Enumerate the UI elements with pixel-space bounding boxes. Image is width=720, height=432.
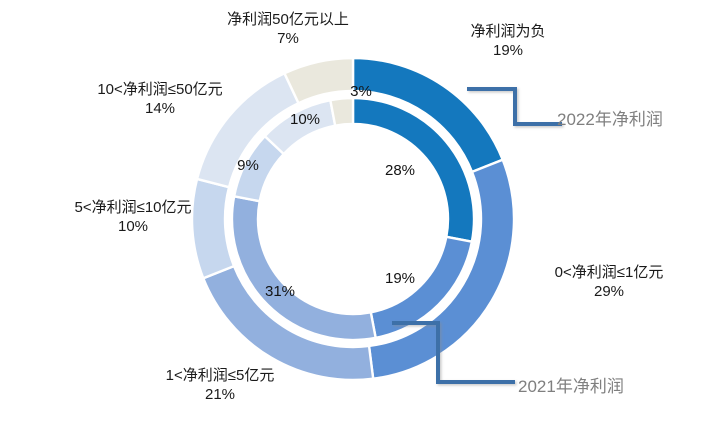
inner-value-label-0-to-1: 19% <box>374 270 426 287</box>
inner-value-label-5-to-10: 9% <box>227 157 269 174</box>
category-label-text: 10<净利润≤50亿元 <box>97 81 222 98</box>
callout-label-2022: 2022年净利润 <box>557 105 663 130</box>
inner-ring-2021 <box>232 98 474 340</box>
inner-value-label-above-50: 3% <box>340 83 382 100</box>
inner-value-label-10-to-50: 10% <box>279 111 331 128</box>
category-label-text: 净利润为负 <box>470 23 545 40</box>
category-label-text: 5<净利润≤10亿元 <box>74 199 191 216</box>
category-label-text: 1<净利润≤5亿元 <box>166 367 275 384</box>
donut-segment[interactable] <box>330 98 353 126</box>
category-label-10-to-50: 10<净利润≤50亿元 14% <box>60 80 260 118</box>
donut-chart: 净利润50亿元以上 7% 10<净利润≤50亿元 14% 5<净利润≤10亿元 … <box>0 0 720 432</box>
category-label-text: 0<净利润≤1亿元 <box>555 264 664 281</box>
category-label-percent: 7% <box>188 29 388 48</box>
category-label-net-profit-above-50: 净利润50亿元以上 7% <box>188 10 388 48</box>
category-label-percent: 19% <box>408 41 608 60</box>
inner-value-label-negative-profit: 28% <box>374 162 426 179</box>
callout-label-2021: 2021年净利润 <box>518 372 624 397</box>
inner-value-label-1-to-5: 31% <box>254 283 306 300</box>
category-label-0-to-1: 0<净利润≤1亿元 29% <box>509 263 709 301</box>
category-label-negative-profit: 净利润为负 19% <box>408 22 608 60</box>
category-label-percent: 21% <box>120 385 320 404</box>
callout-leader-2022 <box>467 89 562 124</box>
category-label-text: 净利润50亿元以上 <box>227 11 349 28</box>
category-label-percent: 14% <box>60 99 260 118</box>
category-label-percent: 29% <box>509 282 709 301</box>
category-label-percent: 10% <box>38 217 228 236</box>
category-label-5-to-10: 5<净利润≤10亿元 10% <box>38 198 228 236</box>
category-label-1-to-5: 1<净利润≤5亿元 21% <box>120 366 320 404</box>
